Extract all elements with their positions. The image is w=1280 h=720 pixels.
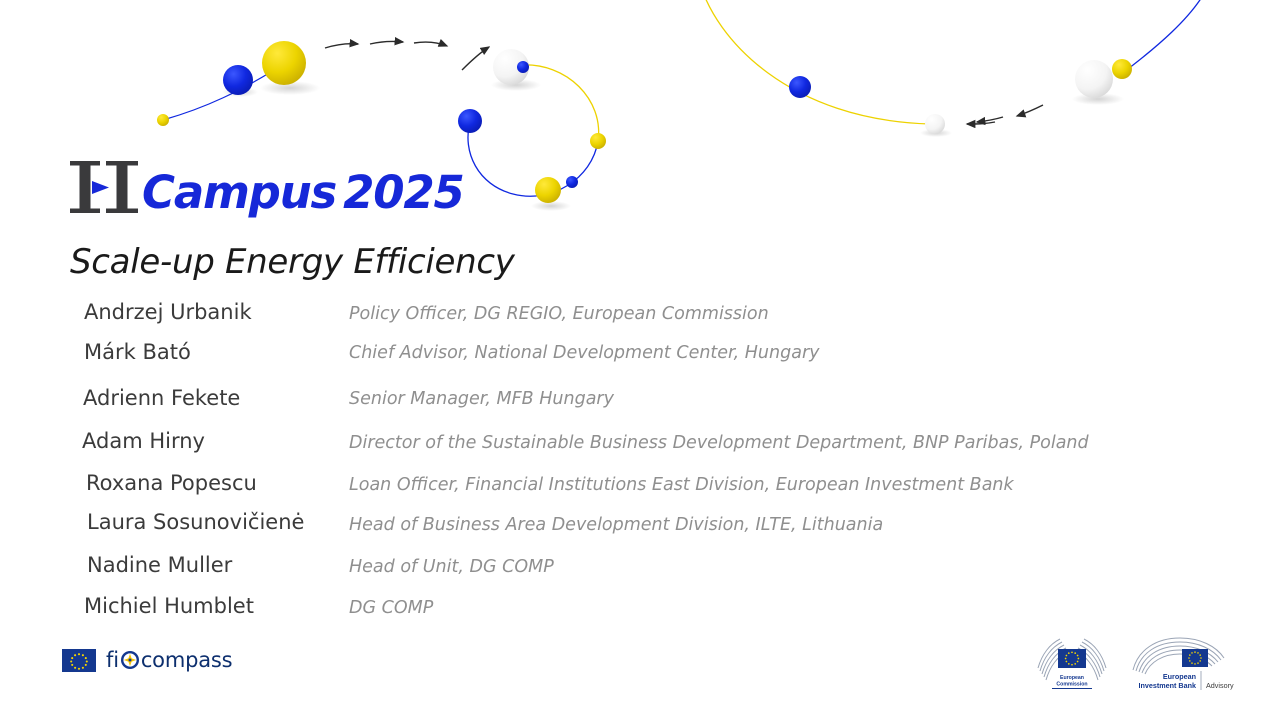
eib-logo-line1: European <box>1163 672 1196 681</box>
ficompass-wordmark: fi compass <box>106 648 232 672</box>
european-investment-bank-logo: European Investment Bank Advisory <box>1130 636 1238 692</box>
ficompass-fi-text: fi <box>106 648 119 672</box>
speaker-row: Laura Sosunovičienė Head of Business Are… <box>0 508 1280 542</box>
eib-logo-advisory-suffix: Advisory <box>1206 681 1234 690</box>
speaker-name: Andrzej Urbanik <box>84 298 252 326</box>
institution-logos: European Commission <box>1036 636 1238 692</box>
ec-logo-line1: European <box>1060 675 1084 681</box>
ficompass-compass-text: compass <box>141 648 233 672</box>
speaker-name: Laura Sosunovičienė <box>87 508 304 536</box>
compass-icon <box>120 650 140 670</box>
brand-word-campus: Campus <box>142 166 336 219</box>
speaker-row: Adrienn Fekete Senior Manager, MFB Hunga… <box>0 384 1280 418</box>
speaker-row: Andrzej Urbanik Policy Officer, DG REGIO… <box>0 298 1280 332</box>
speaker-role: DG COMP <box>349 595 433 621</box>
eu-flag-icon <box>62 649 96 672</box>
speaker-role: Loan Officer, Financial Institutions Eas… <box>349 472 1014 498</box>
speaker-name: Márk Bató <box>84 338 191 366</box>
speaker-role: Director of the Sustainable Business Dev… <box>349 430 1089 456</box>
speaker-role: Chief Advisor, National Development Cent… <box>349 340 820 366</box>
speaker-name: Adam Hirny <box>82 427 205 455</box>
speaker-row: Márk Bató Chief Advisor, National Develo… <box>0 338 1280 372</box>
speaker-row: Roxana Popescu Loan Officer, Financial I… <box>0 469 1280 503</box>
speaker-name: Michiel Humblet <box>84 592 254 620</box>
slide-canvas: Campus2025 Scale-up Energy Efficiency An… <box>0 0 1280 720</box>
speaker-row: Michiel Humblet DG COMP <box>0 592 1280 626</box>
brand-lockup: Campus2025 <box>68 154 464 216</box>
speaker-row: Nadine Muller Head of Unit, DG COMP <box>0 551 1280 585</box>
brand-word-year: 2025 <box>343 166 463 219</box>
ficompass-logo: fi compass <box>62 648 232 672</box>
eib-logo-line2: Investment Bank <box>1138 681 1196 690</box>
speaker-name: Adrienn Fekete <box>83 384 240 412</box>
speaker-name: Nadine Muller <box>87 551 232 579</box>
speaker-role: Policy Officer, DG REGIO, European Commi… <box>349 301 769 327</box>
speaker-role: Head of Business Area Development Divisi… <box>349 512 883 538</box>
speaker-role: Senior Manager, MFB Hungary <box>349 386 614 412</box>
speaker-name: Roxana Popescu <box>86 469 257 497</box>
fi-campus-monogram-icon <box>68 158 140 216</box>
speaker-role: Head of Unit, DG COMP <box>349 554 554 580</box>
session-title: Scale-up Energy Efficiency <box>70 240 515 284</box>
speaker-row: Adam Hirny Director of the Sustainable B… <box>0 427 1280 461</box>
european-commission-logo: European Commission <box>1036 638 1108 692</box>
ec-logo-line2: Commission <box>1056 682 1087 688</box>
brand-wordmark: Campus2025 <box>142 170 464 216</box>
